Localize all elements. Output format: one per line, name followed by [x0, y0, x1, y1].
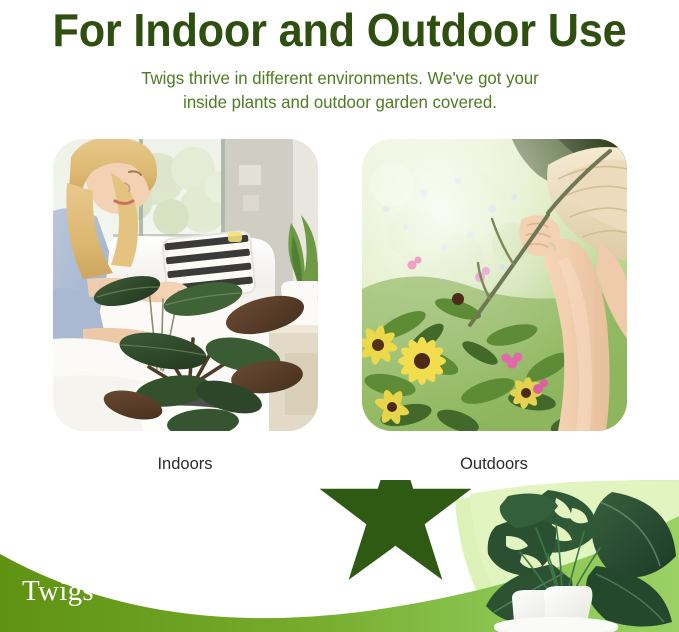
feature-cards: Indoors [0, 139, 679, 474]
brand-leaf-icon [56, 480, 679, 585]
indoor-plant-photo [53, 139, 318, 431]
card-outdoors: Outdoors [362, 139, 627, 474]
outdoor-garden-photo [362, 139, 627, 431]
card-indoors: Indoors [53, 139, 318, 474]
caption-indoors: Indoors [157, 455, 212, 474]
subtitle-line-2: inside plants and outdoor garden covered… [183, 92, 497, 112]
header: For Indoor and Outdoor Use Twigs thrive … [0, 0, 679, 114]
page-subtitle: Twigs thrive in different environments. … [133, 66, 546, 114]
footer-banner: Twigs [0, 480, 679, 632]
page-title: For Indoor and Outdoor Use [20, 2, 658, 58]
subtitle-line-1: Twigs thrive in different environments. … [141, 68, 539, 88]
caption-outdoors: Outdoors [460, 455, 528, 474]
